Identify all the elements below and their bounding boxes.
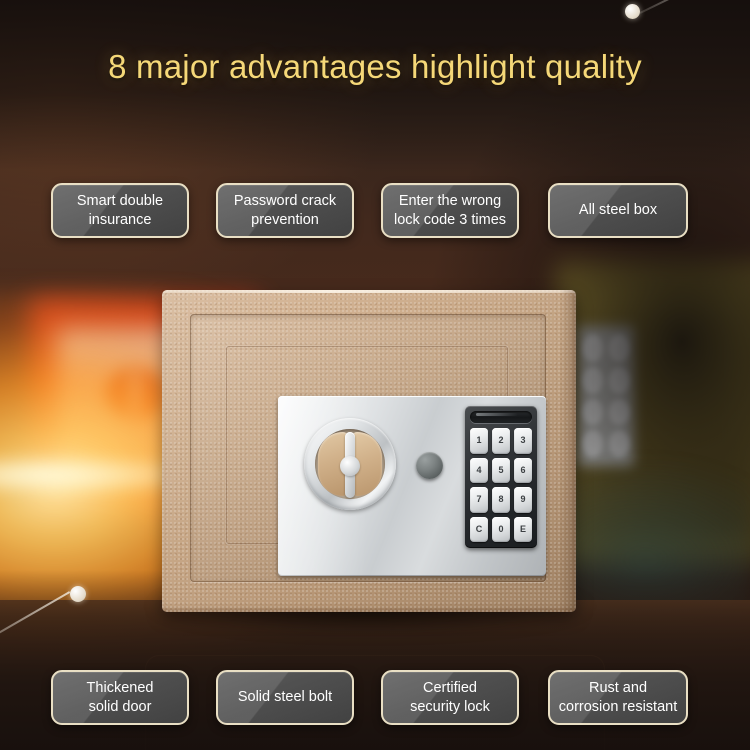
key-lock-dial[interactable] (304, 418, 396, 510)
feature-badge-thickened-solid-door[interactable]: Thickened solid door (51, 670, 189, 725)
decor-dot-bottom-left (70, 586, 86, 602)
feature-badge-solid-steel-bolt[interactable]: Solid steel bolt (216, 670, 354, 725)
keypad-key-9[interactable]: 9 (514, 487, 532, 513)
feature-badge-label: Enter the wrong lock code 3 times (394, 192, 506, 230)
keypad-key-grid: 1 2 3 4 5 6 7 8 9 C 0 E (470, 428, 532, 542)
keypad-key-5[interactable]: 5 (492, 458, 510, 484)
keypad-key-clear[interactable]: C (470, 517, 488, 543)
keypad-key-enter[interactable]: E (514, 517, 532, 543)
keypad-display-screen (470, 411, 532, 423)
safe-door-inner-panel: 1 2 3 4 5 6 7 8 9 C 0 E (226, 346, 508, 544)
door-handle-knob[interactable] (416, 452, 443, 479)
safe-control-faceplate: 1 2 3 4 5 6 7 8 9 C 0 E (278, 396, 546, 576)
feature-badge-enter-wrong-lock-code[interactable]: Enter the wrong lock code 3 times (381, 183, 519, 238)
feature-badge-all-steel-box[interactable]: All steel box (548, 183, 688, 238)
keypad-key-3[interactable]: 3 (514, 428, 532, 454)
safe-door-frame: 1 2 3 4 5 6 7 8 9 C 0 E (190, 314, 546, 582)
feature-badge-label: Certified security lock (410, 679, 490, 717)
feature-badge-rust-corrosion-resistant[interactable]: Rust and corrosion resistant (548, 670, 688, 725)
keypad-key-4[interactable]: 4 (470, 458, 488, 484)
feature-badge-label: Thickened solid door (87, 679, 154, 717)
keypad-key-2[interactable]: 2 (492, 428, 510, 454)
feature-badge-password-crack-prevention[interactable]: Password crack prevention (216, 183, 354, 238)
keypad-key-6[interactable]: 6 (514, 458, 532, 484)
feature-badge-label: Solid steel bolt (238, 688, 332, 707)
digital-safe-box: 1 2 3 4 5 6 7 8 9 C 0 E (162, 290, 576, 612)
page-title: 8 major advantages highlight quality (0, 48, 750, 86)
keypad-key-8[interactable]: 8 (492, 487, 510, 513)
safe-right-edge-shade (560, 290, 576, 612)
feature-badge-label: All steel box (579, 201, 657, 220)
safe-outer-body: 1 2 3 4 5 6 7 8 9 C 0 E (162, 290, 576, 612)
feature-badge-label: Rust and corrosion resistant (559, 679, 677, 717)
safe-top-edge-highlight (162, 290, 576, 293)
decor-dot-top-right (625, 4, 640, 19)
digital-keypad[interactable]: 1 2 3 4 5 6 7 8 9 C 0 E (465, 406, 537, 548)
keypad-key-7[interactable]: 7 (470, 487, 488, 513)
product-feature-banner: 8 major advantages highlight quality Sma… (0, 0, 750, 750)
feature-badge-label: Password crack prevention (234, 192, 336, 230)
feature-badge-smart-double-insurance[interactable]: Smart double insurance (51, 183, 189, 238)
feature-badge-label: Smart double insurance (77, 192, 163, 230)
key-lock-hub (340, 456, 360, 476)
keypad-key-0[interactable]: 0 (492, 517, 510, 543)
keypad-key-1[interactable]: 1 (470, 428, 488, 454)
feature-badge-certified-security-lock[interactable]: Certified security lock (381, 670, 519, 725)
